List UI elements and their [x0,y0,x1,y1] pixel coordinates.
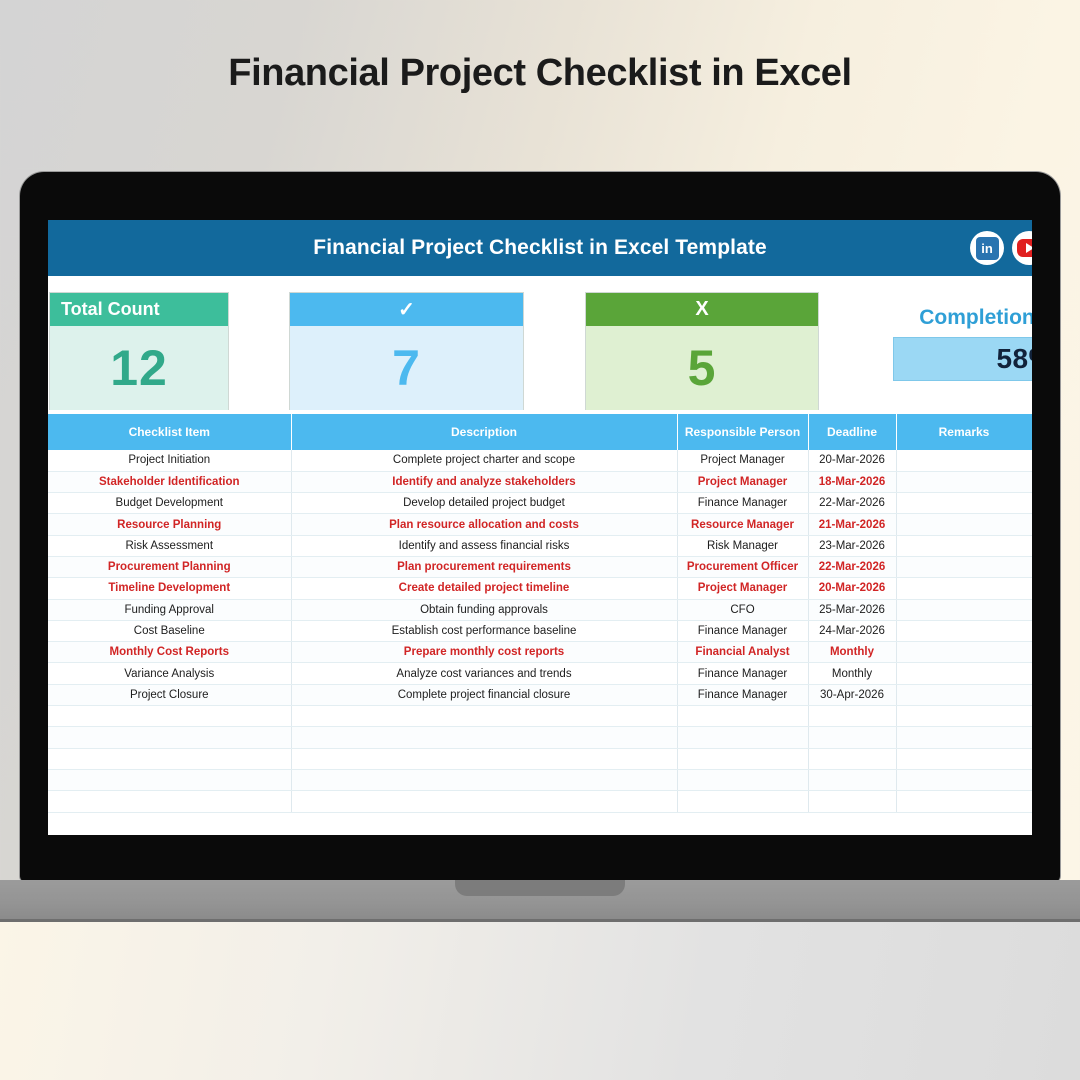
linkedin-icon-glyph: in [976,237,999,260]
cell-remarks[interactable] [896,556,1032,577]
kpi-card-pending: X 5 [585,292,819,410]
cell-responsible-person[interactable]: Project Manager [677,450,808,471]
table-row-empty[interactable] [48,748,1032,769]
app-header: Financial Project Checklist in Excel Tem… [48,220,1032,276]
cell-responsible-person[interactable]: Finance Manager [677,620,808,641]
kpi-strip: Total Count 12 ✓ 7 X 5 Completion 58% [48,276,1032,414]
table-row-empty[interactable] [48,706,1032,727]
kpi-completed-value: 7 [290,326,523,410]
cell-responsible-person[interactable]: CFO [677,599,808,620]
cell-remarks[interactable] [896,535,1032,556]
cell-responsible-person[interactable]: Resource Manager [677,514,808,535]
column-header-deadline[interactable]: Deadline [808,414,896,450]
cell-remarks[interactable] [896,450,1032,471]
cell-deadline[interactable]: 30-Apr-2026 [808,684,896,705]
cell-checklist-item[interactable] [48,769,291,790]
cell-responsible-person[interactable]: Finance Manager [677,684,808,705]
cell-description[interactable]: Identify and analyze stakeholders [291,471,677,492]
cell-responsible-person[interactable] [677,748,808,769]
column-header-remarks[interactable]: Remarks [896,414,1032,450]
column-header-checklist-item[interactable]: Checklist Item [48,414,291,450]
cell-deadline[interactable]: 22-Mar-2026 [808,556,896,577]
cell-remarks[interactable] [896,620,1032,641]
cell-deadline[interactable]: 23-Mar-2026 [808,535,896,556]
cell-description[interactable]: Complete project charter and scope [291,450,677,471]
cell-description[interactable] [291,769,677,790]
cell-remarks[interactable] [896,493,1032,514]
cell-deadline[interactable] [808,791,896,812]
completion-block: Completion 58% [893,306,1032,381]
table-row-empty[interactable] [48,727,1032,748]
cell-responsible-person[interactable] [677,727,808,748]
cell-remarks[interactable] [896,791,1032,812]
cell-deadline[interactable]: 22-Mar-2026 [808,493,896,514]
cell-responsible-person[interactable] [677,706,808,727]
kpi-card-completed: ✓ 7 [289,292,524,410]
cell-description[interactable]: Analyze cost variances and trends [291,663,677,684]
cell-checklist-item[interactable] [48,748,291,769]
youtube-icon-glyph [1017,239,1033,257]
table-row[interactable]: Procurement PlanningPlan procurement req… [48,556,1032,577]
cell-responsible-person[interactable]: Finance Manager [677,493,808,514]
cell-checklist-item[interactable]: Stakeholder Identification [48,471,291,492]
table-row[interactable]: Project ClosureComplete project financia… [48,684,1032,705]
table-row[interactable]: Stakeholder IdentificationIdentify and a… [48,471,1032,492]
cell-remarks[interactable] [896,684,1032,705]
cell-description[interactable] [291,727,677,748]
cell-description[interactable] [291,706,677,727]
table-row[interactable]: Resource PlanningPlan resource allocatio… [48,514,1032,535]
table-row[interactable]: Risk AssessmentIdentify and assess finan… [48,535,1032,556]
table-row[interactable]: Project InitiationComplete project chart… [48,450,1032,471]
kpi-total-count-value: 12 [50,326,228,410]
linkedin-icon[interactable]: in [970,231,1004,265]
cell-description[interactable]: Plan procurement requirements [291,556,677,577]
checklist-table-body: Project InitiationComplete project chart… [48,450,1032,812]
cell-deadline[interactable]: 25-Mar-2026 [808,599,896,620]
cell-deadline[interactable]: 20-Mar-2026 [808,450,896,471]
cell-description[interactable]: Create detailed project timeline [291,578,677,599]
cell-responsible-person[interactable]: Finance Manager [677,663,808,684]
cell-description[interactable]: Prepare monthly cost reports [291,642,677,663]
cell-deadline[interactable]: Monthly [808,642,896,663]
cell-remarks[interactable] [896,748,1032,769]
cell-responsible-person[interactable] [677,791,808,812]
cell-responsible-person[interactable]: Financial Analyst [677,642,808,663]
table-row[interactable]: Funding ApprovalObtain funding approvals… [48,599,1032,620]
completion-progress-bar: 58% [893,337,1032,381]
cross-icon: X [586,293,818,326]
cell-checklist-item[interactable] [48,706,291,727]
cell-checklist-item[interactable]: Funding Approval [48,599,291,620]
table-row[interactable]: Timeline DevelopmentCreate detailed proj… [48,578,1032,599]
cell-description[interactable] [291,748,677,769]
cell-checklist-item[interactable]: Procurement Planning [48,556,291,577]
check-icon: ✓ [290,293,523,326]
completion-percent-value: 58% [894,338,1032,380]
page-title: Financial Project Checklist in Excel [0,52,1080,95]
cell-checklist-item[interactable]: Monthly Cost Reports [48,642,291,663]
cell-remarks[interactable] [896,706,1032,727]
cell-remarks[interactable] [896,663,1032,684]
cell-checklist-item[interactable]: Cost Baseline [48,620,291,641]
table-header-row: Checklist Item Description Responsible P… [48,414,1032,450]
cell-description[interactable]: Plan resource allocation and costs [291,514,677,535]
cell-responsible-person[interactable]: Project Manager [677,471,808,492]
cell-deadline[interactable]: Monthly [808,663,896,684]
kpi-pending-value: 5 [586,326,818,410]
cell-description[interactable]: Establish cost performance baseline [291,620,677,641]
cell-description[interactable]: Complete project financial closure [291,684,677,705]
cell-remarks[interactable] [896,514,1032,535]
kpi-card-total-count: Total Count 12 [49,292,229,410]
cell-description[interactable]: Identify and assess financial risks [291,535,677,556]
column-header-description[interactable]: Description [291,414,677,450]
youtube-icon[interactable] [1012,231,1032,265]
cell-remarks[interactable] [896,578,1032,599]
table-row-empty[interactable] [48,791,1032,812]
cell-checklist-item[interactable]: Risk Assessment [48,535,291,556]
table-row[interactable]: Monthly Cost ReportsPrepare monthly cost… [48,642,1032,663]
cell-description[interactable] [291,791,677,812]
checklist-sheet: Checklist Item Description Responsible P… [48,414,1032,813]
social-icon-group: in [970,231,1032,265]
cell-description[interactable]: Obtain funding approvals [291,599,677,620]
cell-remarks[interactable] [896,769,1032,790]
cell-responsible-person[interactable]: Procurement Officer [677,556,808,577]
cell-checklist-item[interactable]: Project Initiation [48,450,291,471]
column-header-responsible-person[interactable]: Responsible Person [677,414,808,450]
cell-checklist-item[interactable]: Project Closure [48,684,291,705]
completion-label: Completion [893,306,1032,330]
cell-remarks[interactable] [896,727,1032,748]
cell-deadline[interactable] [808,727,896,748]
cell-checklist-item[interactable]: Budget Development [48,493,291,514]
cell-deadline[interactable]: 18-Mar-2026 [808,471,896,492]
kpi-total-count-label: Total Count [50,293,228,326]
cell-deadline[interactable]: 24-Mar-2026 [808,620,896,641]
cell-checklist-item[interactable]: Variance Analysis [48,663,291,684]
cell-checklist-item[interactable] [48,727,291,748]
cell-responsible-person[interactable] [677,769,808,790]
table-row[interactable]: Cost BaselineEstablish cost performance … [48,620,1032,641]
cell-responsible-person[interactable]: Risk Manager [677,535,808,556]
checklist-table: Checklist Item Description Responsible P… [48,414,1032,813]
cell-responsible-person[interactable]: Project Manager [677,578,808,599]
cell-description[interactable]: Develop detailed project budget [291,493,677,514]
cell-deadline[interactable] [808,769,896,790]
cell-remarks[interactable] [896,642,1032,663]
table-row[interactable]: Budget DevelopmentDevelop detailed proje… [48,493,1032,514]
cell-checklist-item[interactable] [48,791,291,812]
cell-remarks[interactable] [896,471,1032,492]
cell-deadline[interactable] [808,706,896,727]
background-floor [0,900,1080,1080]
laptop-base-notch [455,880,625,896]
cell-deadline[interactable]: 21-Mar-2026 [808,514,896,535]
cell-checklist-item[interactable]: Timeline Development [48,578,291,599]
excel-screen: Financial Project Checklist in Excel Tem… [48,220,1032,835]
cell-deadline[interactable] [808,748,896,769]
app-header-title: Financial Project Checklist in Excel Tem… [313,236,766,260]
table-row-empty[interactable] [48,769,1032,790]
cell-deadline[interactable]: 20-Mar-2026 [808,578,896,599]
cell-remarks[interactable] [896,599,1032,620]
table-row[interactable]: Variance AnalysisAnalyze cost variances … [48,663,1032,684]
cell-checklist-item[interactable]: Resource Planning [48,514,291,535]
